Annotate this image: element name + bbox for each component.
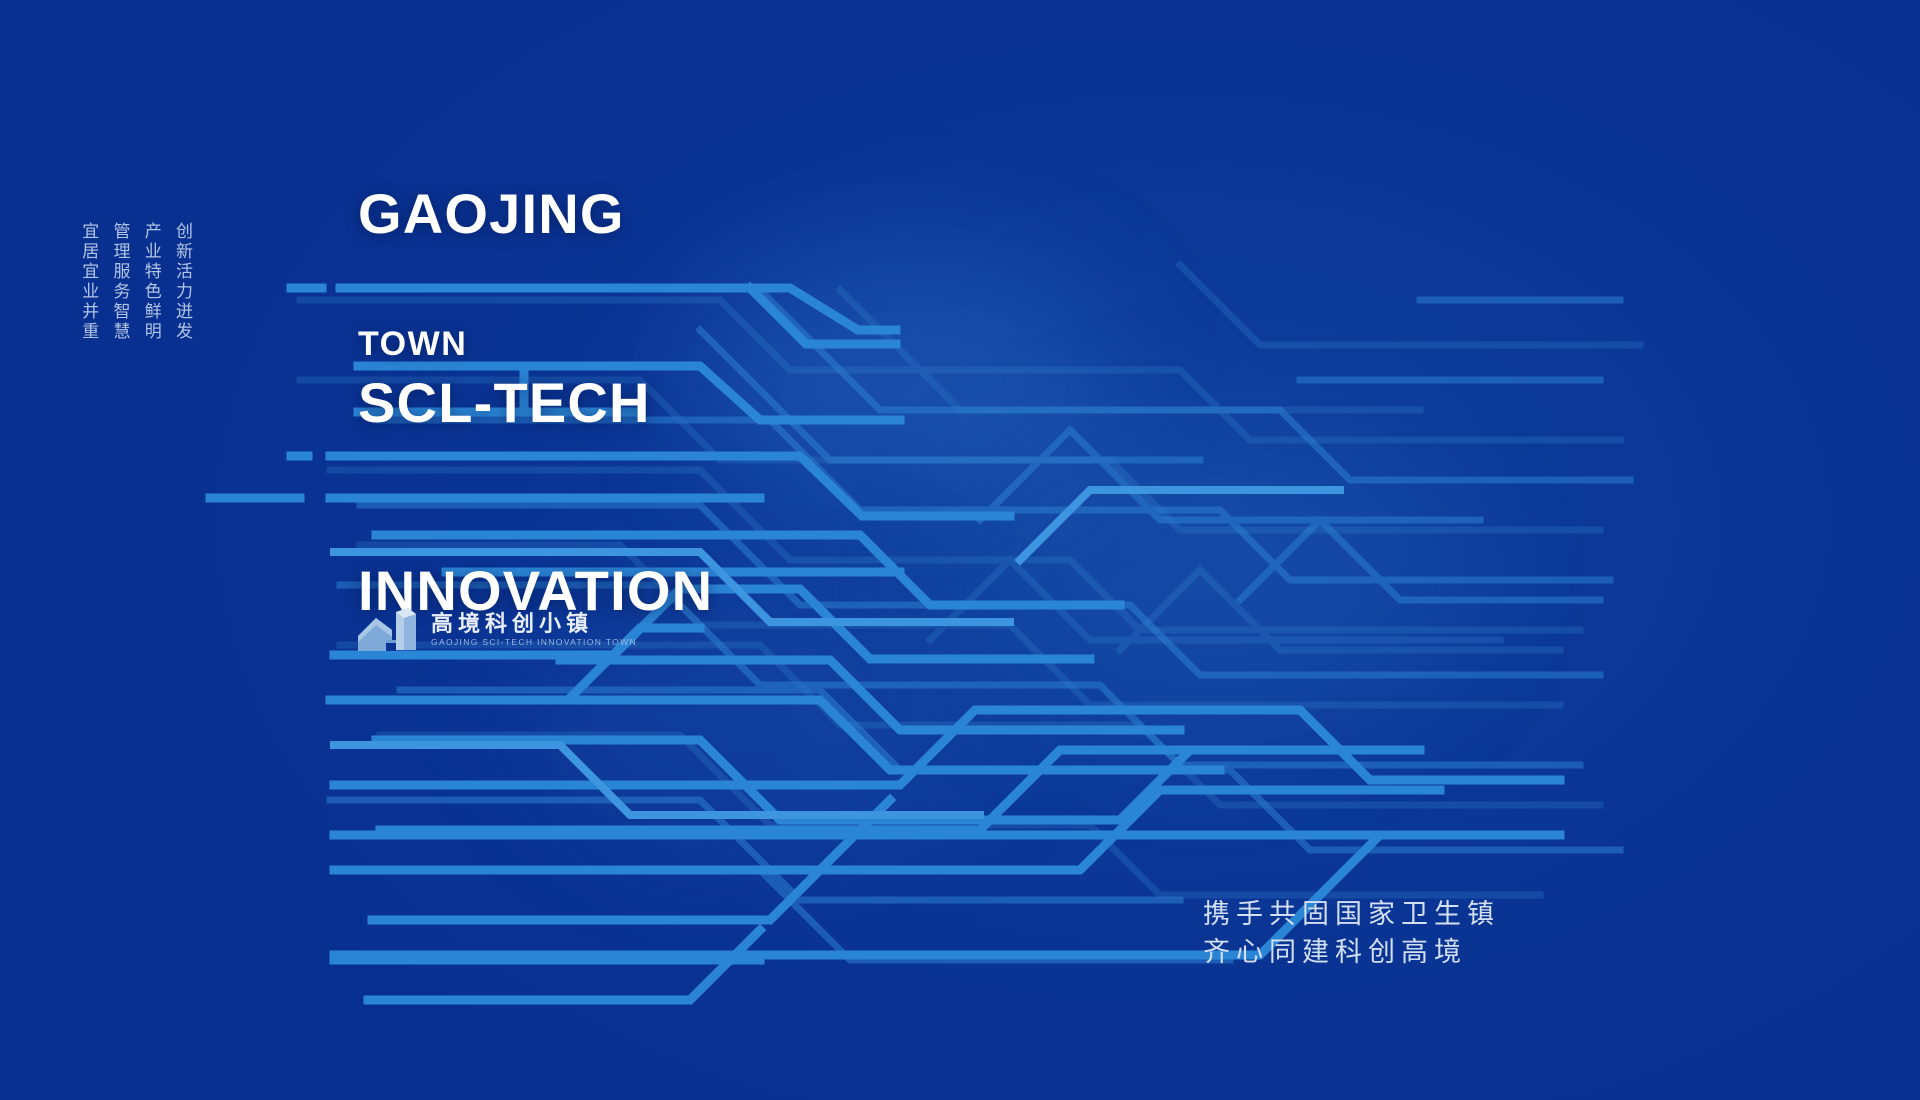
vertical-slogan: 创新活力迸发 产业特色鲜明 管理服务智慧 宜居宜业并重	[78, 222, 193, 342]
vertical-slogan-col-2: 产业特色鲜明	[141, 222, 162, 342]
headline-line-1: GAOJING	[358, 183, 713, 246]
glow-bloom-right	[950, 420, 1470, 740]
vertical-slogan-col-3: 管理服务智慧	[109, 222, 130, 342]
headline-line-2: SCL-TECH	[358, 372, 713, 435]
house-building-icon	[356, 606, 418, 654]
bottom-slogan: 携手共固国家卫生镇 齐心同建科创高境	[1203, 895, 1500, 972]
bottom-slogan-line-1: 携手共固国家卫生镇	[1203, 895, 1500, 933]
vertical-slogan-col-1: 创新活力迸发	[172, 222, 193, 342]
vertical-slogan-col-4: 宜居宜业并重	[78, 222, 99, 342]
logo-text-block: 高境科创小镇 GAOJING SCI-TECH INNOVATION TOWN	[431, 613, 637, 647]
logo-name-cn: 高境科创小镇	[431, 613, 637, 635]
circuit-pattern-near	[0, 0, 1920, 1100]
circuit-pattern-mid	[0, 0, 1920, 1100]
logo-name-en: GAOJING SCI-TECH INNOVATION TOWN	[431, 638, 637, 647]
glow-bloom-upper	[690, 250, 1110, 510]
bottom-slogan-line-2: 齐心同建科创高境	[1203, 933, 1500, 971]
logo-lockup: 高境科创小镇 GAOJING SCI-TECH INNOVATION TOWN	[356, 606, 637, 654]
poster-canvas: GAOJING SCL-TECH INNOVATION TOWN 创新活力迸发 …	[0, 0, 1920, 1100]
headline-line-4: TOWN	[358, 325, 467, 364]
circuit-pattern-far	[0, 0, 1920, 1100]
